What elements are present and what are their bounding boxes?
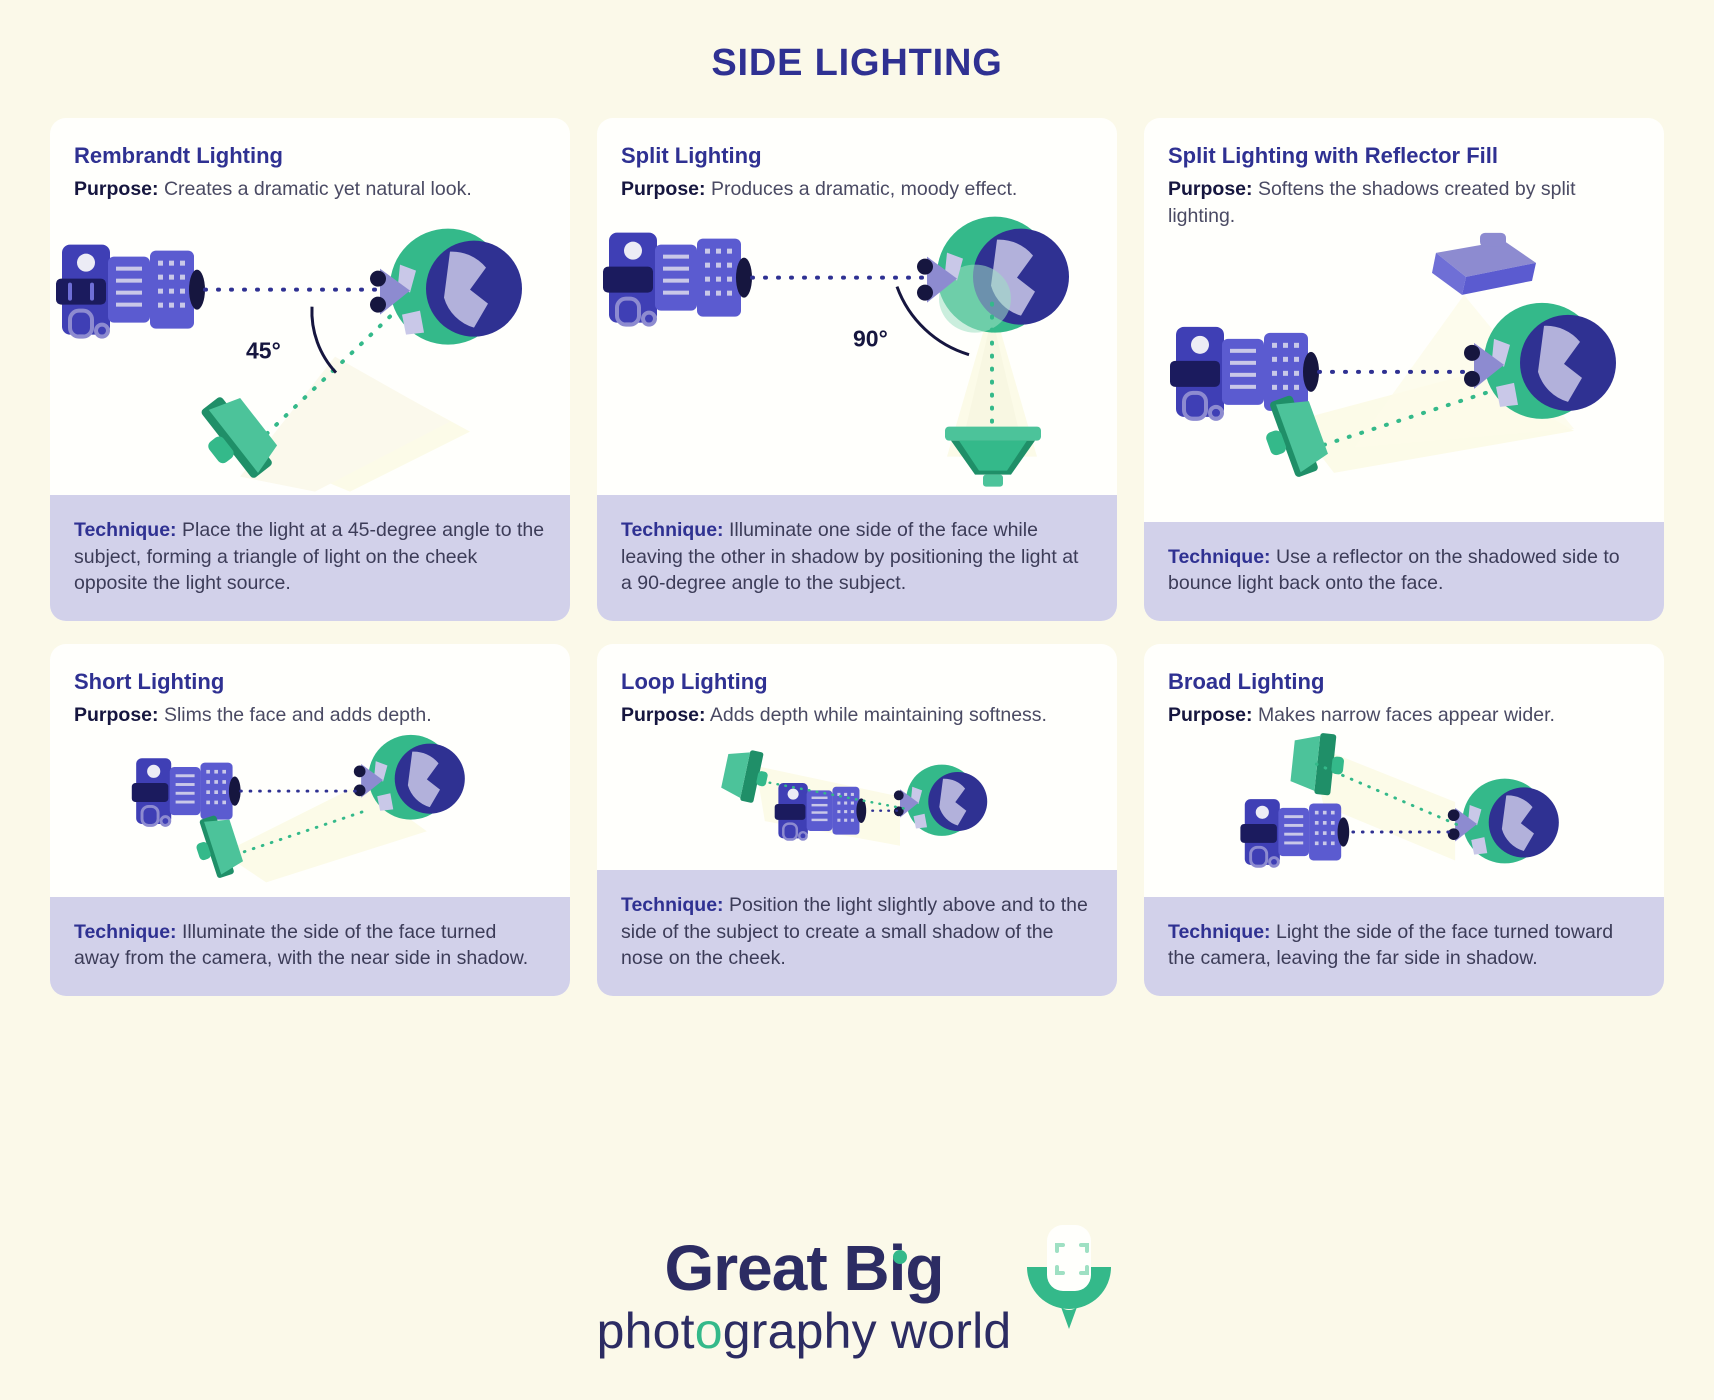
illustration-broad [1144,729,1664,897]
technique-block: Technique: Place the light at a 45-degre… [50,495,570,621]
logo-i-dot: i [889,1236,906,1300]
card-purpose: Purpose: Slims the face and adds depth. [74,702,546,728]
card-purpose: Purpose: Softens the shadows created by … [1168,176,1640,229]
card-title: Loop Lighting [621,669,1093,694]
logo-line1-b: g [905,1232,943,1304]
card-header: Split Lighting with Reflector Fill Purpo… [1144,118,1664,229]
overhead-light [1432,233,1536,295]
illustration-split: 90° [597,203,1117,495]
card-header: Rembrandt Lighting Purpose: Creates a dr… [50,118,570,203]
card-header: Split Lighting Purpose: Produces a drama… [597,118,1117,203]
card-title: Short Lighting [74,669,546,694]
card-title: Split Lighting [621,143,1093,168]
light-source [189,811,246,882]
logo-line2-o: o [695,1303,723,1359]
subject-head [894,764,987,835]
purpose-text: Makes narrow faces appear wider. [1258,704,1555,726]
card-split-lighting: Split Lighting Purpose: Produces a drama… [597,118,1117,621]
infographic-page: SIDE LIGHTING Rembrandt Lighting Purpose… [0,0,1714,1400]
card-purpose: Purpose: Adds depth while maintaining so… [621,702,1093,728]
logo-lockup: Great Big photography world [597,1223,1118,1356]
camera-icon [1240,799,1349,866]
purpose-label: Purpose: [621,704,706,726]
subject-head [1448,778,1559,863]
illustration-short [50,729,570,897]
card-header: Short Lighting Purpose: Slims the face a… [50,644,570,729]
purpose-label: Purpose: [1168,178,1253,200]
camera-icon [56,244,205,336]
card-header: Loop Lighting Purpose: Adds depth while … [597,644,1117,729]
logo-line2: photography world [597,1306,1012,1356]
technique-block: Technique: Illuminate one side of the fa… [597,495,1117,621]
card-title: Split Lighting with Reflector Fill [1168,143,1640,168]
logo-line2-a: phot [597,1303,695,1359]
technique-label: Technique: [621,519,724,541]
card-header: Broad Lighting Purpose: Makes narrow fac… [1144,644,1664,729]
purpose-text: Produces a dramatic, moody effect. [711,178,1017,200]
logo-line1-a: Great B [664,1232,888,1304]
technique-block: Technique: Use a reflector on the shadow… [1144,522,1664,621]
card-rembrandt-lighting: Rembrandt Lighting Purpose: Creates a dr… [50,118,570,621]
technique-label: Technique: [1168,921,1271,943]
logo-line1-i: i [889,1232,906,1304]
logo-line1: Great Big [664,1236,943,1300]
card-short-lighting: Short Lighting Purpose: Slims the face a… [50,644,570,996]
illustration-rembrandt: 45° [50,203,570,495]
subject-head [370,228,522,344]
purpose-label: Purpose: [1168,704,1253,726]
technique-block: Technique: Position the light slightly a… [597,870,1117,996]
technique-block: Technique: Illuminate the side of the fa… [50,897,570,996]
card-purpose: Purpose: Makes narrow faces appear wider… [1168,702,1640,728]
angle-label: 45° [246,337,281,363]
card-title: Rembrandt Lighting [74,143,546,168]
card-split-lighting-with-reflector-fill: Split Lighting with Reflector Fill Purpo… [1144,118,1664,621]
camera-icon [132,758,241,825]
purpose-label: Purpose: [621,178,706,200]
card-purpose: Purpose: Produces a dramatic, moody effe… [621,176,1093,202]
logo-line2-b: graphy world [723,1303,1012,1359]
card-title: Broad Lighting [1168,669,1640,694]
technique-label: Technique: [74,921,177,943]
technique-block: Technique: Light the side of the face tu… [1144,897,1664,996]
angle-label: 90° [853,325,888,351]
purpose-text: Adds depth while maintaining softness. [710,704,1047,726]
card-grid: Rembrandt Lighting Purpose: Creates a dr… [50,118,1664,996]
card-broad-lighting: Broad Lighting Purpose: Makes narrow fac… [1144,644,1664,996]
camera-icon [603,232,752,324]
logo-mark-icon [1021,1223,1117,1348]
page-title: SIDE LIGHTING [0,0,1714,85]
card-loop-lighting: Loop Lighting Purpose: Adds depth while … [597,644,1117,996]
card-purpose: Purpose: Creates a dramatic yet natural … [74,176,546,202]
footer-logo: Great Big photography world [0,1223,1714,1356]
purpose-label: Purpose: [74,178,159,200]
purpose-label: Purpose: [74,704,159,726]
purpose-text: Creates a dramatic yet natural look. [164,178,472,200]
technique-label: Technique: [74,519,177,541]
technique-label: Technique: [621,894,724,916]
technique-label: Technique: [1168,546,1271,568]
purpose-text: Slims the face and adds depth. [164,704,432,726]
illustration-loop [597,729,1117,870]
illustration-split-reflector [1144,229,1664,522]
